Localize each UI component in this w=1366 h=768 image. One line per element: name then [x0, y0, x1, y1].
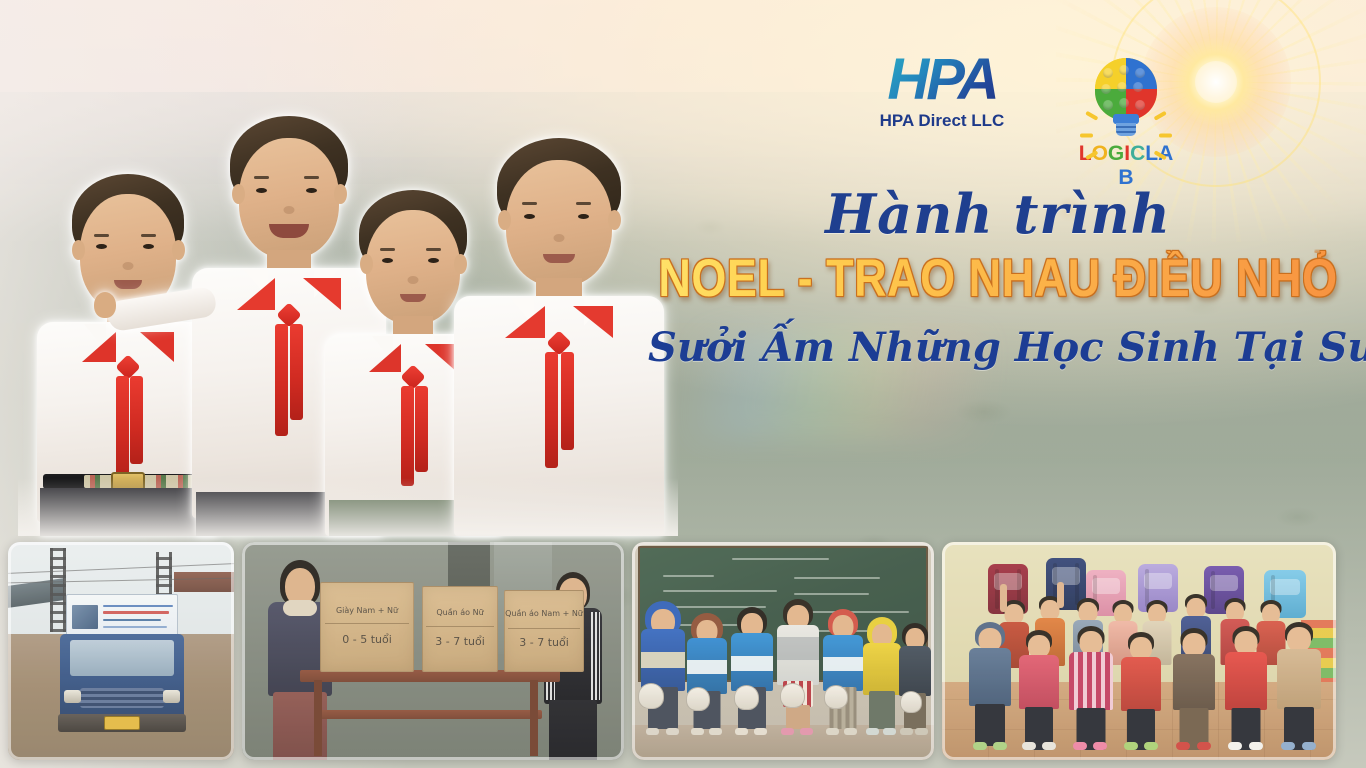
hpa-name: HPA Direct LLC [862, 111, 1022, 131]
preschool-front-6-shoe-left [1228, 742, 1242, 750]
preschool-front-1-shoe-left [973, 742, 987, 750]
preschool-front-5-shoe-left [1176, 742, 1190, 750]
photo-classroom-gifts[interactable] [632, 542, 934, 760]
preschool-front-2-coat [1019, 655, 1059, 709]
chalk-line-2 [663, 575, 714, 577]
boy-1-brow-right [141, 234, 156, 237]
student-7-shoe-left [900, 728, 913, 735]
table-leg-left [314, 680, 322, 756]
preschool-front-1-coat [969, 648, 1011, 706]
boy-4-brow-right [576, 202, 591, 205]
boy-2-eye-right [306, 188, 317, 193]
chalk-line-1 [732, 558, 829, 560]
box-3-label-line1: Quần áo Nam + Nữ [505, 610, 583, 619]
box-2-label-line1: Quần áo Nữ [423, 609, 497, 618]
box-3-seam [508, 628, 580, 629]
boy-2-eye-left [256, 188, 267, 193]
chalk-line-5 [794, 577, 880, 579]
table-leg-right [530, 680, 538, 756]
preschool-front-1 [968, 622, 1012, 750]
student-1-coat-stripe [641, 652, 685, 668]
boy-4-scarf-tail-left [545, 352, 558, 468]
preschool-front-2 [1018, 630, 1060, 750]
preschool-front-4-coat [1121, 657, 1161, 711]
boy-4 [448, 126, 670, 536]
photo-boxes[interactable]: Giày Nam + Nữ 0 - 5 tuổi Quần áo Nữ 3 - … [242, 542, 624, 760]
boy-2-brow-right [304, 176, 319, 179]
bulb-glass-lego [1095, 58, 1157, 120]
student-3-coat-stripe [731, 656, 773, 671]
student-1-shoe-left [646, 728, 659, 735]
student-4-coat [777, 625, 819, 685]
hpa-mark: HPA [862, 52, 1022, 107]
student-2-shoe-right [709, 728, 722, 735]
logo-row: HPA HPA Direct LLC [862, 52, 1180, 190]
hero-photo-boys [18, 118, 678, 536]
student-3-shoe-left [735, 728, 748, 735]
boy-1-ear-left [72, 240, 85, 260]
donation-table-shelf [314, 710, 542, 719]
boy-3-eye-left [382, 258, 393, 263]
boy-4-eye-right [578, 214, 589, 219]
title-block: Hành trình NOEL - TRAO NHAU ĐIỀU NHỎ Sưở… [648, 186, 1348, 370]
boy-1-brow-left [94, 234, 109, 237]
box-1-seam [325, 623, 410, 624]
preschool-front-1-legs [975, 704, 1005, 746]
student-6 [862, 617, 902, 729]
boy-1-nose [123, 262, 134, 270]
preschool-front-6-coat [1225, 652, 1267, 710]
boy-1-eye-right [143, 244, 154, 249]
boy-3-nose [408, 276, 419, 284]
banner-photo-thumb [72, 605, 98, 629]
banner-line-4 [103, 626, 167, 628]
boy-3-head [366, 210, 460, 324]
student-4-legs [786, 705, 810, 729]
student-5-shoe-right [844, 728, 857, 735]
preschool-front-3-coat [1069, 652, 1113, 710]
student-3 [730, 607, 774, 729]
box-1-label-line1: Giày Nam + Nữ [321, 607, 413, 616]
student-1-coat [641, 629, 685, 691]
student-6-coat [863, 643, 901, 695]
student-1-shoe-right [666, 728, 679, 735]
student-6-shoe-right [883, 728, 896, 735]
student-4-gift-bag [780, 683, 805, 708]
boy-2-scarf-tail-left [275, 324, 288, 436]
donation-box-1: Giày Nam + Nữ 0 - 5 tuổi [320, 582, 414, 672]
boy-3-eye-right [428, 258, 439, 263]
preschool-front-3-shoe-left [1073, 742, 1087, 750]
student-5-coat-stripe [823, 657, 863, 672]
volunteer-right-trousers [549, 700, 597, 760]
box-2-label-line2: 3 - 7 tuổi [423, 636, 497, 648]
student-3-coat [731, 633, 773, 691]
box-3-label-line2: 3 - 7 tuổi [505, 637, 583, 649]
boy-4-head [506, 160, 612, 286]
student-2-shoe-left [691, 728, 704, 735]
student-4-shoe-right [800, 728, 813, 735]
boy-4-mouth [543, 254, 575, 263]
student-1 [640, 601, 686, 729]
student-7 [898, 623, 932, 729]
donation-box-3: Quần áo Nam + Nữ 3 - 7 tuổi [504, 590, 584, 672]
student-5-coat [823, 635, 863, 691]
boy-3-brow-left [380, 248, 395, 251]
preschool-front-6-shoe-right [1249, 742, 1263, 750]
boy-2-brow-left [254, 176, 269, 179]
boy-4-brow-left [522, 202, 537, 205]
boy-1-eye-left [96, 244, 107, 249]
student-5 [822, 609, 864, 729]
boy-4-ear-right [608, 210, 621, 230]
student-2-gift-bag [686, 687, 710, 711]
boy-4-scarf-wing-right [573, 306, 613, 338]
preschool-front-4-shoe-right [1144, 742, 1158, 750]
preschool-back-2-arm [1057, 582, 1064, 608]
tracksuit-stripe-right [591, 612, 600, 700]
boy-1-scarf [80, 332, 176, 482]
student-4-shirt-graphic [777, 637, 819, 660]
chalk-line-6 [794, 593, 868, 595]
electric-pylon-left [50, 548, 66, 632]
photo-backpacks[interactable] [942, 542, 1336, 760]
preschool-front-5-coat [1173, 654, 1215, 710]
photo-strip: Giày Nam + Nữ 0 - 5 tuổi Quần áo Nữ 3 - … [0, 532, 1366, 768]
boy-4-nose [554, 234, 565, 242]
boy-1-scarf-tail-right [130, 376, 143, 464]
boy-4-ear-left [498, 210, 511, 230]
preschool-front-7-shoe-left [1281, 742, 1295, 750]
student-7-gift-bag [900, 691, 922, 713]
boy-3-scarf-wing-left [369, 344, 401, 372]
truck-banner [66, 594, 178, 636]
student-4-shoe-left [781, 728, 794, 735]
lego-studs [1095, 58, 1157, 120]
preschool-front-2-shoe-right [1042, 742, 1056, 750]
photo-truck[interactable] [8, 542, 234, 760]
bulb-base [1116, 123, 1136, 136]
student-5-shoe-left [826, 728, 839, 735]
student-2-coat [687, 638, 727, 694]
boy-4-scarf [505, 306, 613, 474]
boy-1-scarf-tail-left [116, 376, 129, 480]
boy-4-scarf-tail-right [561, 352, 574, 450]
poster-canvas: HPA HPA Direct LLC [0, 0, 1366, 768]
logo-hpa-direct[interactable]: HPA HPA Direct LLC [862, 52, 1022, 131]
preschool-front-6 [1224, 626, 1268, 750]
banner-line-1 [103, 605, 173, 607]
title-script-bottom: Sưởi Ấm Những Học Sinh Tại Suối Tọ [648, 326, 1348, 370]
student-2-coat-stripe [687, 660, 727, 675]
truck-license-plate [104, 716, 140, 730]
truck-headlight-right [163, 690, 180, 703]
preschool-front-7-shoe-right [1302, 742, 1316, 750]
boy-2-ear-left [232, 184, 245, 204]
student-4 [776, 599, 820, 729]
boy-3-scarf-tail-left [401, 386, 414, 486]
volunteer-left-collar [283, 600, 317, 616]
title-script-top: Hành trình [648, 186, 1348, 243]
lightbulb-icon [1072, 52, 1180, 140]
logiclab-letter-c: C [1130, 142, 1145, 166]
preschool-front-3 [1068, 626, 1114, 750]
boy-1-ear-right [172, 240, 185, 260]
boy-3-ear-left [360, 254, 373, 274]
truck-headlight-left [64, 690, 81, 703]
boy-1-scarf-wing-left [82, 332, 116, 362]
boy-3-mouth [400, 294, 426, 302]
box-1-label-line2: 0 - 5 tuổi [321, 634, 413, 646]
boy-3-brow-right [426, 248, 441, 251]
preschool-front-2-shoe-left [1022, 742, 1036, 750]
student-6-legs [869, 691, 895, 729]
boy-3-scarf-tail-right [415, 386, 428, 472]
village-roof-right [174, 572, 234, 592]
boy-2-nose [284, 206, 295, 214]
boy-2-scarf-wing-left [237, 278, 275, 310]
preschool-front-4 [1120, 632, 1162, 750]
student-1-gift-bag [638, 683, 664, 709]
preschool-front-7 [1276, 622, 1322, 750]
student-7-coat [899, 646, 931, 696]
preschool-front-4-shoe-left [1124, 742, 1138, 750]
logiclab-letter-g: G [1108, 142, 1124, 166]
chalk-line-3 [663, 590, 777, 592]
boy-2-hand [94, 292, 116, 318]
preschool-front-5 [1172, 628, 1216, 750]
hero-bottom-fade [18, 478, 678, 536]
student-5-gift-bag [824, 685, 848, 709]
boy-4-scarf-wing-left [505, 306, 545, 338]
truck-windshield [70, 640, 174, 676]
preschool-front-1-shoe-right [993, 742, 1007, 750]
banner-line-2 [103, 611, 169, 614]
preschool-front-5-shoe-right [1197, 742, 1211, 750]
truck-grille [80, 688, 164, 708]
student-7-shoe-right [915, 728, 928, 735]
preschool-back-1-arm [1000, 584, 1007, 612]
logo-logiclab[interactable]: LOGICLAB [1072, 52, 1180, 190]
preschool-front-3-shoe-right [1093, 742, 1107, 750]
title-main-headline: NOEL - TRAO NHAU ĐIỀU NHỎ [648, 251, 1348, 304]
student-2 [686, 613, 728, 729]
boy-2-scarf-tail-right [290, 324, 303, 420]
boy-1-scarf-wing-right [140, 332, 174, 362]
student-3-gift-bag [734, 685, 759, 710]
box-2-seam [426, 626, 494, 627]
student-6-shoe-left [866, 728, 879, 735]
preschool-front-7-coat [1277, 649, 1321, 709]
student-3-shoe-right [754, 728, 767, 735]
donation-box-2: Quần áo Nữ 3 - 7 tuổi [422, 586, 498, 672]
boy-3-scarf [367, 344, 459, 494]
banner-line-3 [103, 619, 161, 621]
boy-4-eye-left [524, 214, 535, 219]
